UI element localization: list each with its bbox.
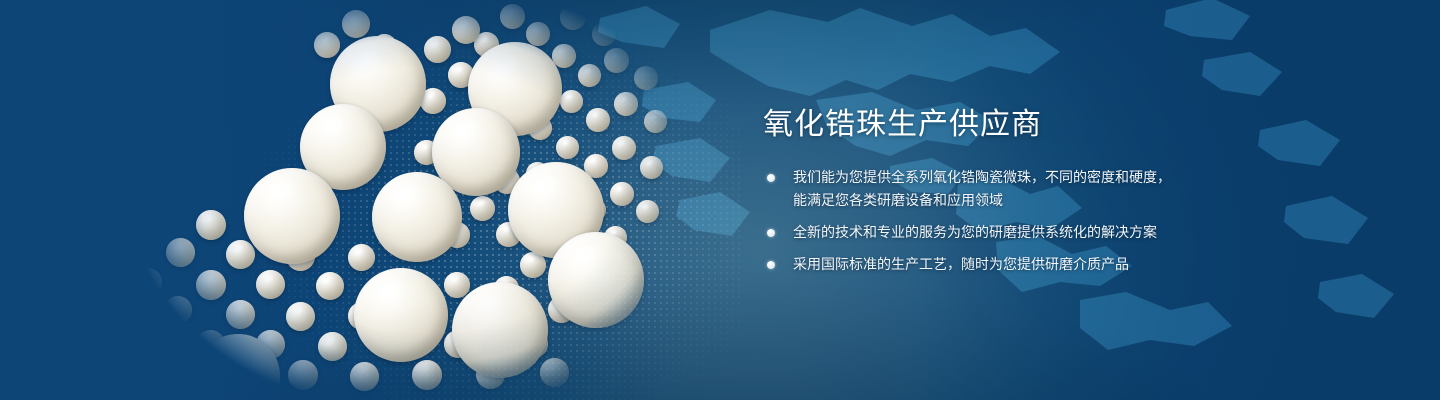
benefit-item-2-line-1: 全新的技术和专业的服务为您的研磨提供系统化的解决方案	[793, 221, 1233, 244]
banner-headline: 氧化锆珠生产供应商	[763, 106, 1233, 144]
benefit-item-1: 我们能为您提供全系列氧化锆陶瓷微珠，不同的密度和硬度， 能满足您各类研磨设备和应…	[763, 166, 1233, 212]
banner-copy: 氧化锆珠生产供应商 我们能为您提供全系列氧化锆陶瓷微珠，不同的密度和硬度， 能满…	[763, 106, 1233, 276]
benefit-item-3: 采用国际标准的生产工艺，随时为您提供研磨介质产品	[763, 253, 1233, 276]
benefit-item-1-line-2: 能满足您各类研磨设备和应用领域	[793, 189, 1233, 212]
benefit-item-2: 全新的技术和专业的服务为您的研磨提供系统化的解决方案	[763, 221, 1233, 244]
benefit-item-3-line-1: 采用国际标准的生产工艺，随时为您提供研磨介质产品	[793, 253, 1233, 276]
benefit-list: 我们能为您提供全系列氧化锆陶瓷微珠，不同的密度和硬度， 能满足您各类研磨设备和应…	[763, 166, 1233, 276]
hero-banner: 氧化锆珠生产供应商 我们能为您提供全系列氧化锆陶瓷微珠，不同的密度和硬度， 能满…	[0, 0, 1440, 400]
benefit-item-1-line-1: 我们能为您提供全系列氧化锆陶瓷微珠，不同的密度和硬度，	[793, 166, 1233, 189]
bullet-dot-icon	[767, 229, 775, 237]
bullet-dot-icon	[767, 261, 775, 269]
bullet-dot-icon	[767, 174, 775, 182]
